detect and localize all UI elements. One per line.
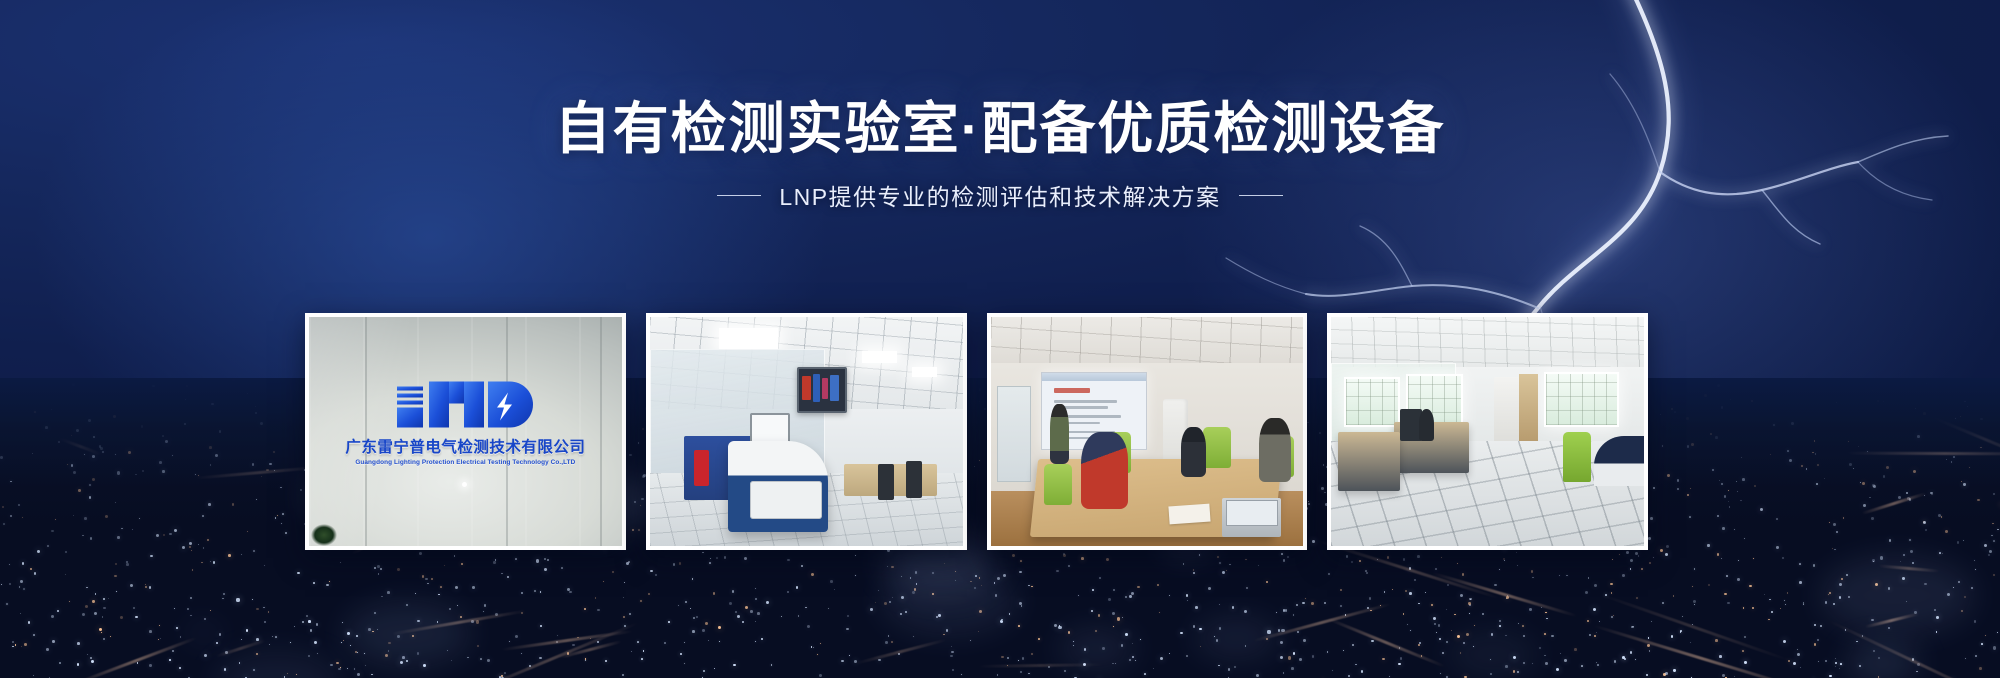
hero-text-block: 自有检测实验室·配备优质检测设备 LNP提供专业的检测评估和技术解决方案 <box>0 96 2000 212</box>
photo-office-area <box>1331 317 1644 546</box>
presenter <box>1050 404 1069 464</box>
photo-company-sign: 广东雷宁普电气检测技术有限公司 Guangdong Lighting Prote… <box>309 317 622 546</box>
company-sign: 广东雷宁普电气检测技术有限公司 Guangdong Lighting Prote… <box>309 377 622 466</box>
wall-display <box>797 367 847 413</box>
hero-banner: 自有检测实验室·配备优质检测设备 LNP提供专业的检测评估和技术解决方案 <box>0 0 2000 678</box>
control-console <box>728 441 828 533</box>
attendee-mid <box>1181 427 1206 477</box>
plant-decor <box>311 524 337 546</box>
photo-frame-meeting-room[interactable] <box>987 313 1308 550</box>
attendee-right <box>1259 418 1290 482</box>
laptop <box>1222 498 1281 537</box>
decorative-dash-right <box>1239 195 1283 196</box>
photo-frame-office[interactable] <box>1327 313 1648 550</box>
photo-strip: 广东雷宁普电气检测技术有限公司 Guangdong Lighting Prote… <box>305 313 1648 550</box>
attendee-front <box>1081 432 1128 510</box>
lnp-logo-icon <box>390 377 540 433</box>
decorative-dash-left <box>717 195 761 196</box>
page-subtitle-row: LNP提供专业的检测评估和技术解决方案 <box>0 178 2000 212</box>
photo-training-meeting-room <box>991 317 1304 546</box>
photo-testing-laboratory <box>650 317 963 546</box>
company-name-en: Guangdong Lighting Protection Electrical… <box>309 459 622 466</box>
photo-frame-company-sign[interactable]: 广东雷宁普电气检测技术有限公司 Guangdong Lighting Prote… <box>305 313 626 550</box>
page-subtitle: LNP提供专业的检测评估和技术解决方案 <box>779 178 1220 212</box>
company-name-cn: 广东雷宁普电气检测技术有限公司 <box>309 435 622 457</box>
page-title: 自有检测实验室·配备优质检测设备 <box>0 96 2000 162</box>
photo-frame-laboratory[interactable] <box>646 313 967 550</box>
seated-worker <box>1419 409 1435 441</box>
